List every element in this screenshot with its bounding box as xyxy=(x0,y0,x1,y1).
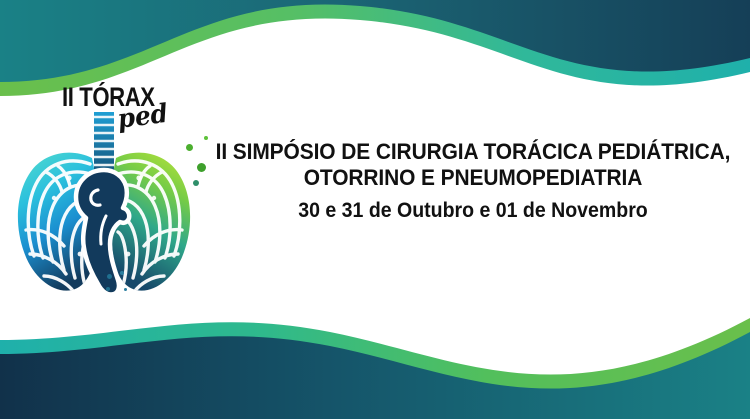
decor-dot-blue xyxy=(124,288,127,291)
event-title-line1: II SIMPÓSIO DE CIRURGIA TORÁCICA PEDIÁTR… xyxy=(215,140,730,164)
logo-wordmark-sub: ped xyxy=(116,99,170,135)
decor-dot-blue xyxy=(107,274,112,279)
event-dates: 30 e 31 de Outubro e 01 de Novembro xyxy=(215,200,730,223)
decor-dot-blue xyxy=(106,287,110,291)
logo-wordmark: II TÓRAX ped xyxy=(58,82,198,144)
title-block: II SIMPÓSIO DE CIRURGIA TORÁCICA PEDIÁTR… xyxy=(196,140,750,222)
decor-dot-green xyxy=(186,144,193,151)
decor-dot-blue xyxy=(120,271,124,275)
event-banner: II TÓRAX ped xyxy=(0,0,750,419)
logo: II TÓRAX ped xyxy=(6,82,202,307)
event-title-line2: OTORRINO E PNEUMOPEDIATRIA xyxy=(215,166,730,190)
